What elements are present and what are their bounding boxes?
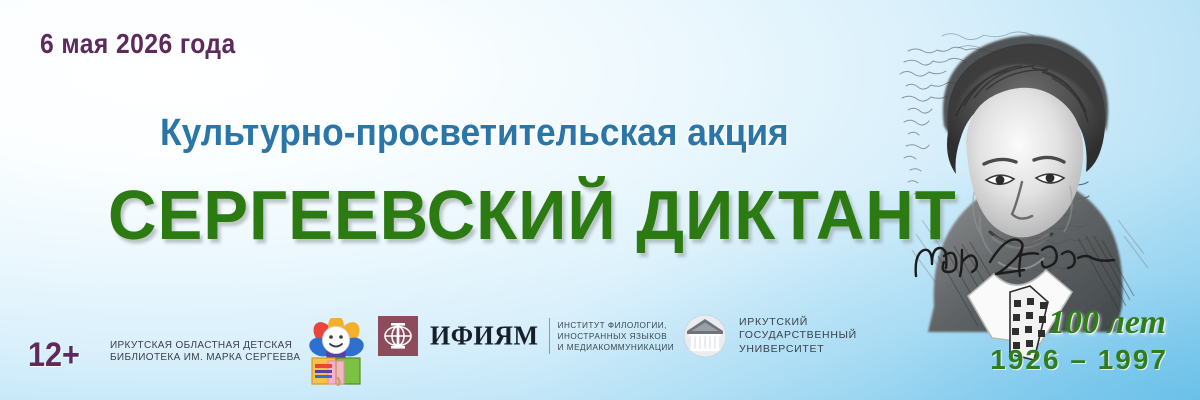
logo-regional-childrens-library: ИРКУТСКАЯ ОБЛАСТНАЯ ДЕТСКАЯ БИБЛИОТЕКА И… — [110, 318, 364, 386]
event-banner: 6 мая 2026 года Культурно-просветительск… — [0, 0, 1200, 400]
ifiyam-name-line2: ИНОСТРАННЫХ ЯЗЫКОВ — [558, 331, 675, 342]
logo-divider — [549, 318, 550, 354]
university-name: ИРКУТСКИЙ ГОСУДАРСТВЕННЫЙ УНИВЕРСИТЕТ — [739, 316, 857, 357]
globe-monogram-icon — [378, 316, 418, 356]
library-name-line1: ИРКУТСКАЯ ОБЛАСТНАЯ ДЕТСКАЯ — [110, 340, 300, 353]
partner-logos: ИРКУТСКАЯ ОБЛАСТНАЯ ДЕТСКАЯ БИБЛИОТЕКА И… — [110, 300, 900, 380]
logo-irkutsk-state-university: ИРКУТСКИЙ ГОСУДАРСТВЕННЫЙ УНИВЕРСИТЕТ — [683, 314, 857, 358]
library-name-line2: БИБЛИОТЕКА ИМ. МАРКА СЕРГЕЕВА — [110, 352, 300, 365]
ifiyam-name-line3: И МЕДИАКОММУНИКАЦИИ — [558, 342, 675, 353]
university-name-line1: ИРКУТСКИЙ — [739, 316, 857, 330]
event-date: 6 мая 2026 года — [40, 28, 236, 60]
ifiyam-name-line1: ИНСТИТУТ ФИЛОЛОГИИ, — [558, 320, 675, 331]
anniversary-label: 100 лет — [1048, 304, 1166, 342]
event-subtitle: Культурно-просветительская акция — [160, 112, 811, 155]
flower-book-mascot-icon — [308, 318, 364, 386]
university-name-line2: ГОСУДАРСТВЕННЫЙ — [739, 329, 857, 343]
life-years-label: 1926 – 1997 — [990, 344, 1168, 376]
library-logo-text: ИРКУТСКАЯ ОБЛАСТНАЯ ДЕТСКАЯ БИБЛИОТЕКА И… — [110, 340, 300, 365]
age-rating-badge: 12+ — [28, 336, 80, 375]
classical-building-icon — [683, 314, 727, 358]
university-name-line3: УНИВЕРСИТЕТ — [739, 343, 857, 357]
ifiyam-acronym: ИФИЯМ — [430, 320, 539, 352]
logo-ifiyam: ИФИЯМ ИНСТИТУТ ФИЛОЛОГИИ, ИНОСТРАННЫХ ЯЗ… — [378, 316, 674, 356]
ifiyam-full-name: ИНСТИТУТ ФИЛОЛОГИИ, ИНОСТРАННЫХ ЯЗЫКОВ И… — [558, 320, 675, 353]
page-title: СЕРГЕЕВСКИЙ ДИКТАНТ — [108, 175, 895, 255]
